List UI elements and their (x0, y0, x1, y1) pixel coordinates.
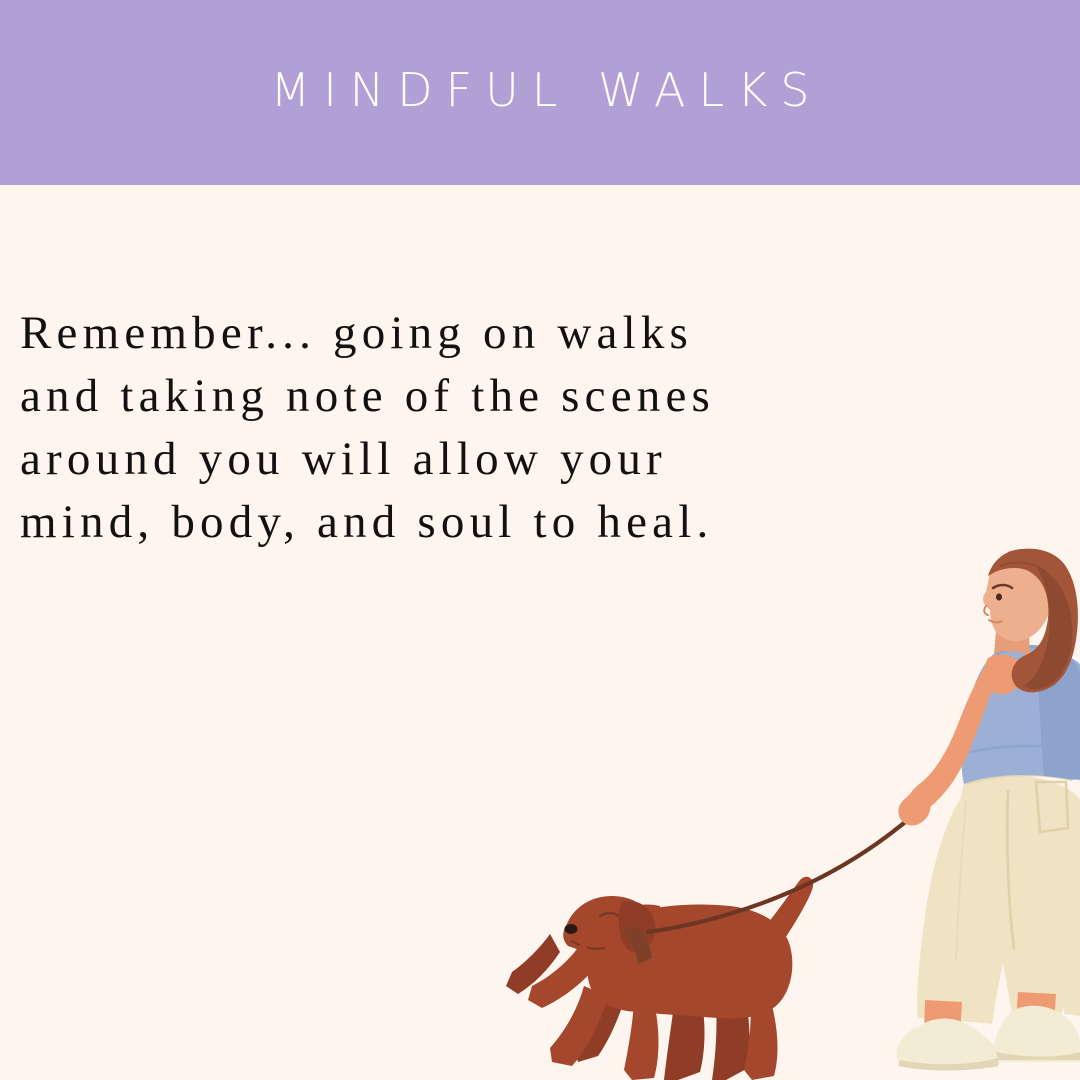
dog-mouth-line (572, 941, 604, 949)
quote-line-2: and taking note of the scenes (20, 365, 920, 428)
hair-part (1000, 563, 1046, 572)
hair-top (988, 549, 1070, 598)
dog-neck (612, 904, 668, 949)
dog-ear (619, 901, 656, 952)
quote-line-4: mind, body, and soul to heal. (20, 491, 920, 554)
top-neckline (996, 646, 1038, 654)
dog-head (565, 896, 657, 964)
pants-pocket (1036, 782, 1068, 832)
pants-seam-2 (956, 800, 966, 960)
pants-back-leg (992, 830, 1069, 1016)
pants-waistband (966, 775, 1072, 784)
pants-body (934, 773, 1080, 1024)
shoe-front (896, 1019, 1001, 1071)
lip-line (989, 620, 1002, 622)
hair-strands (1024, 566, 1072, 689)
dog-eye (600, 913, 618, 916)
dog-near-legs (528, 942, 777, 1080)
dog-collar (622, 926, 652, 964)
dog-muzzle (563, 926, 602, 954)
pants-seam-1 (1007, 790, 1014, 950)
top-hem-fold (970, 746, 1058, 752)
eyebrow (993, 585, 1012, 588)
quote-block: Remember... going on walks and taking no… (20, 302, 920, 554)
leash (648, 812, 917, 932)
quote-line-3: around you will allow your (20, 428, 920, 491)
quote-line-1: Remember... going on walks (20, 302, 920, 365)
woman-figure (896, 549, 1080, 1071)
shoe-back (995, 1006, 1080, 1062)
dog-nose (565, 924, 578, 934)
page-title: MINDFUL WALKS (0, 62, 1080, 118)
shoulder (984, 655, 1022, 695)
hand (898, 792, 930, 825)
pants-front-leg (917, 790, 1016, 1022)
dog-tail (750, 877, 813, 960)
dog-chest (590, 914, 668, 1002)
dog-figure (506, 877, 813, 1080)
poster-canvas: MINDFUL WALKS Remember... going on walks… (0, 0, 1080, 1080)
dog-far-legs (506, 934, 750, 1080)
face-profile (983, 551, 1054, 641)
ankle-front (924, 1000, 962, 1034)
neck (994, 608, 1030, 656)
arm (908, 662, 1000, 813)
nose-line (984, 606, 988, 615)
dog-body (587, 905, 792, 1019)
top-back (1038, 646, 1080, 780)
eye (996, 593, 1002, 600)
hair-back (1008, 549, 1078, 693)
ankle-back (1016, 992, 1056, 1024)
sleeveless-top (962, 646, 1080, 784)
